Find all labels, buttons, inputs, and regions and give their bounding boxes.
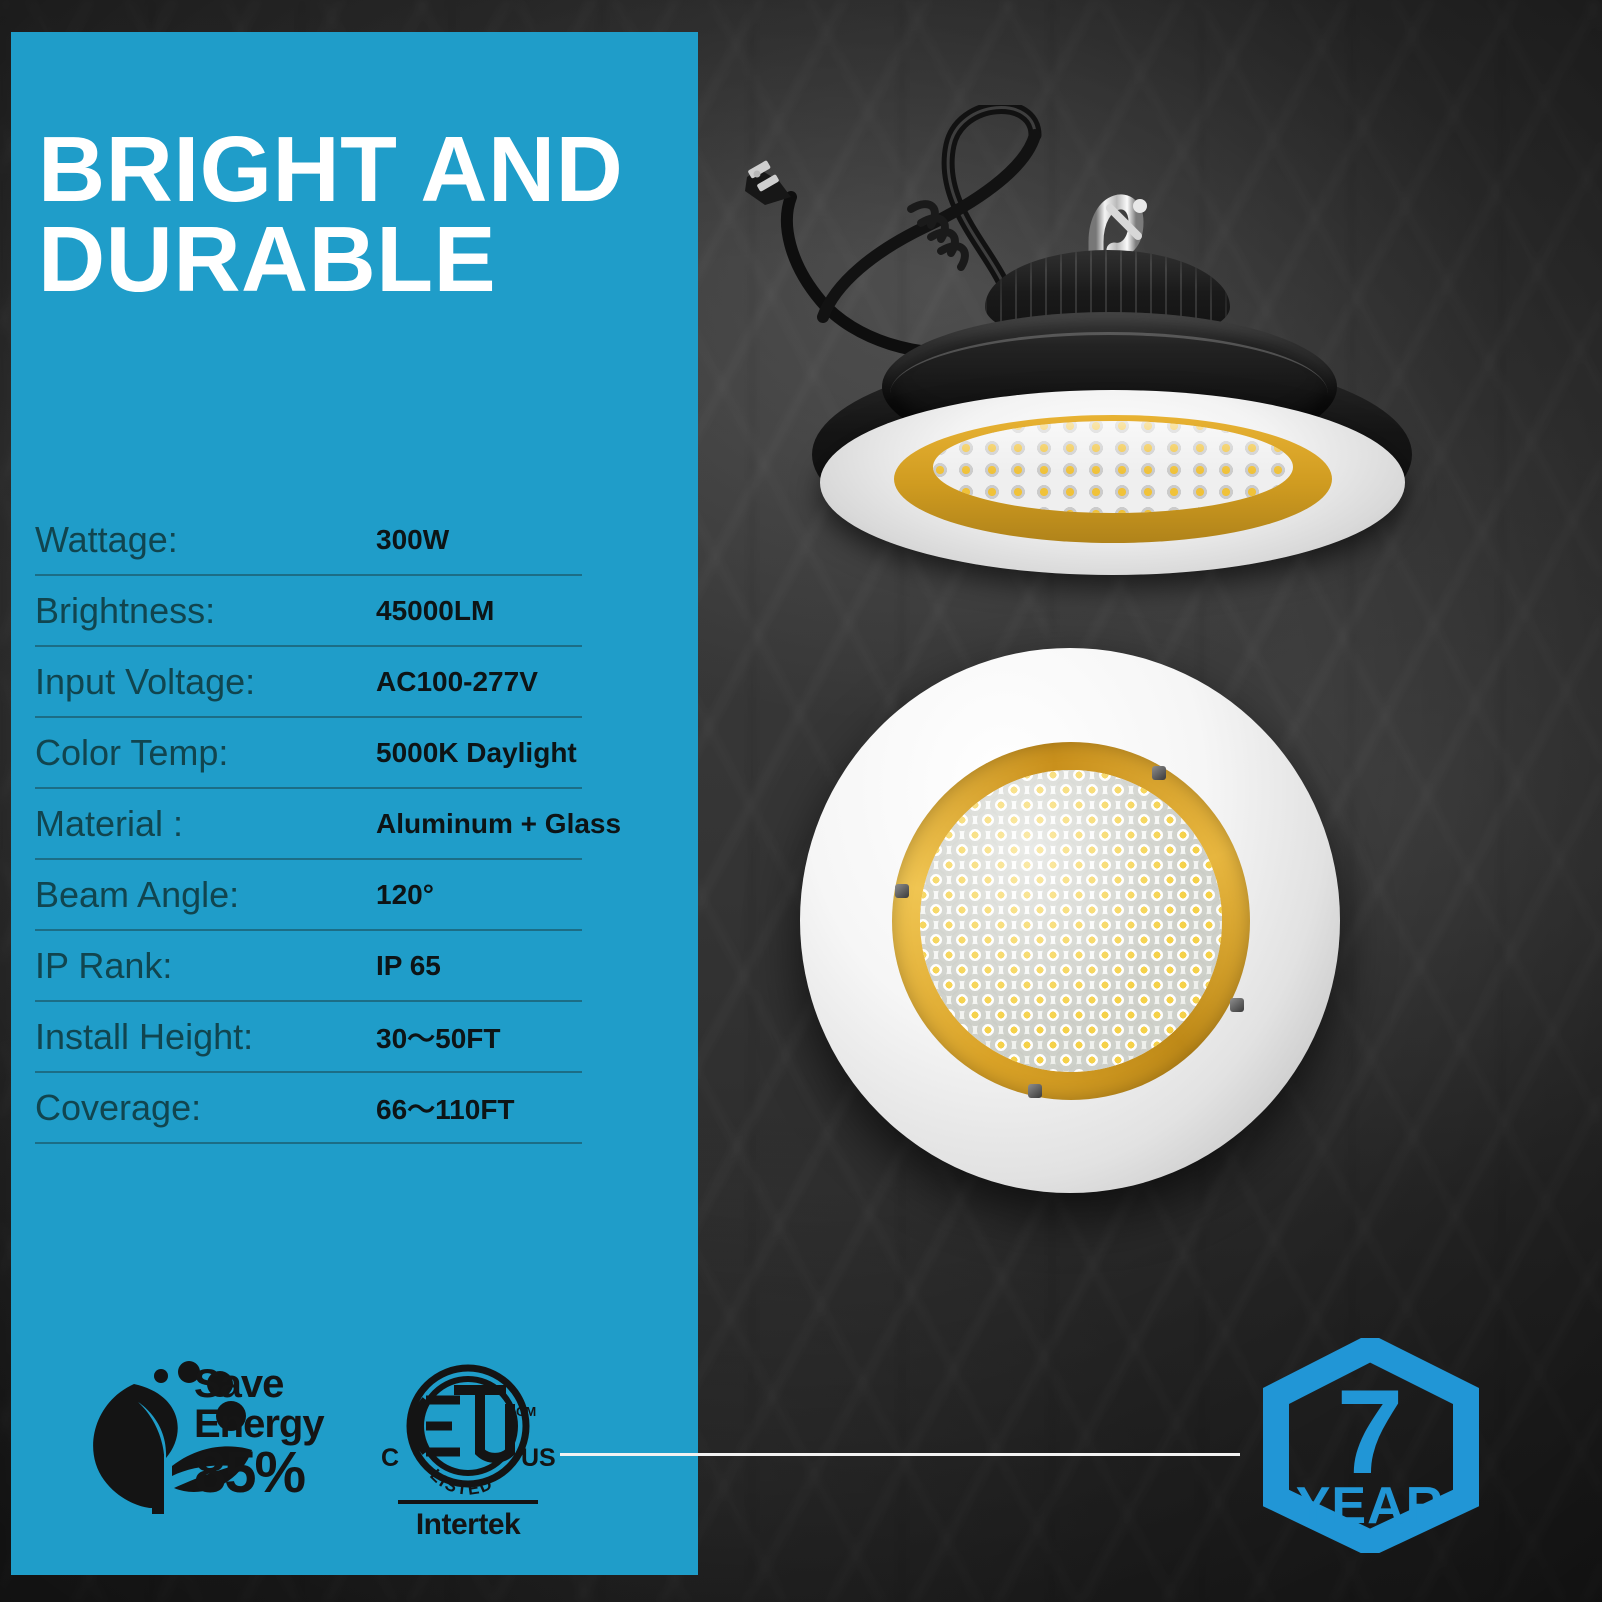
spec-row: Material : Aluminum + Glass — [35, 789, 582, 860]
save-energy-line1: Save — [194, 1364, 324, 1404]
spec-row: Input Voltage: AC100-277V — [35, 647, 582, 718]
spec-value: IP 65 — [376, 950, 441, 982]
footer-divider — [560, 1453, 1240, 1456]
screw-icon — [1230, 998, 1244, 1012]
svg-text:CM: CM — [516, 1404, 536, 1419]
spec-value: 66～110FT — [376, 1088, 515, 1128]
shield-icon: 7 YEAR — [1258, 1338, 1483, 1553]
etl-divider — [398, 1500, 538, 1504]
spec-row: Beam Angle: 120° — [35, 860, 582, 931]
infographic-canvas: BRIGHT AND DURABLE Wattage: 300W Brightn… — [0, 0, 1602, 1602]
hexagonal-lens-array — [920, 770, 1222, 1072]
etl-c-mark: C — [381, 1444, 399, 1473]
spec-label: Install Height: — [35, 1016, 253, 1058]
spec-label: Coverage: — [35, 1087, 201, 1129]
spec-label: Wattage: — [35, 519, 178, 561]
save-energy-badge: Save Energy 85% — [76, 1358, 326, 1518]
product-image-angled-fixture — [735, 105, 1435, 525]
screw-icon — [895, 884, 909, 898]
spec-row: Color Temp: 5000K Daylight — [35, 718, 582, 789]
spec-label: Material : — [35, 803, 183, 845]
spec-value: 45000LM — [376, 595, 494, 627]
spec-value: Aluminum + Glass — [376, 808, 621, 840]
spec-row: Install Height: 30～50FT — [35, 1002, 582, 1073]
spec-label: Beam Angle: — [35, 874, 239, 916]
spec-row: Wattage: 300W — [35, 505, 582, 576]
spec-value: 30～50FT — [376, 1017, 501, 1057]
save-energy-text: Save Energy 85% — [194, 1364, 324, 1502]
spec-label: Color Temp: — [35, 732, 228, 774]
spec-row: Brightness: 45000LM — [35, 576, 582, 647]
spec-value: 120° — [376, 879, 434, 911]
spec-label: IP Rank: — [35, 945, 172, 987]
spec-row: IP Rank: IP 65 — [35, 931, 582, 1002]
page-title: BRIGHT AND DURABLE — [38, 124, 678, 304]
etl-listed-icon: CM LISTED — [378, 1360, 558, 1510]
save-energy-percent: 85% — [194, 1444, 324, 1502]
etl-listed-badge: CM LISTED C US Intertek — [378, 1360, 558, 1535]
spec-row: Coverage: 66～110FT — [35, 1073, 582, 1144]
spec-value: 5000K Daylight — [376, 737, 577, 769]
product-image-bottom-fixture — [800, 648, 1340, 1193]
us-plug-icon — [745, 160, 791, 205]
fixture-body-angled — [770, 240, 1400, 510]
specifications-table: Wattage: 300W Brightness: 45000LM Input … — [35, 505, 582, 1144]
spec-label: Brightness: — [35, 590, 215, 632]
save-energy-line2: Energy — [194, 1404, 324, 1444]
spec-label: Input Voltage: — [35, 661, 255, 703]
spec-value: 300W — [376, 524, 449, 556]
etl-us-mark: US — [521, 1444, 556, 1473]
screw-icon — [1152, 766, 1166, 780]
warranty-badge: 7 YEAR — [1258, 1338, 1483, 1553]
spec-value: AC100-277V — [376, 666, 538, 698]
led-array-top — [933, 421, 1293, 513]
etl-company-name: Intertek — [378, 1508, 558, 1542]
warranty-label: YEAR — [1296, 1477, 1444, 1535]
screw-icon — [1028, 1084, 1042, 1098]
